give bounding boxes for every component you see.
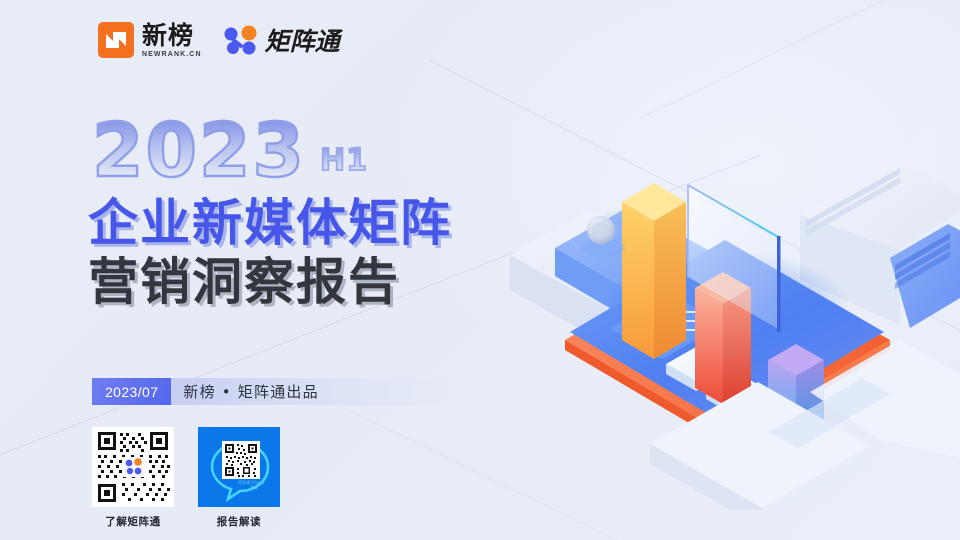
newrank-en-text: NEWRANK.CN xyxy=(142,51,202,58)
qr-code-group: 了解矩阵通 xyxy=(92,427,280,529)
half-year-text: H1 xyxy=(320,146,368,176)
qr-item-1[interactable]: 矩阵通.Cherry 邀请 报告解读 xyxy=(198,427,280,529)
title-line-1: 企业新媒体矩阵 xyxy=(88,194,452,253)
newrank-n-mark xyxy=(98,22,134,58)
date-badge: 2023/07 xyxy=(92,378,171,405)
glass-pane-post xyxy=(777,236,781,332)
year-block: 2023 H1 xyxy=(92,118,368,185)
isometric-dashboard-illustration xyxy=(470,40,960,510)
juzhentong-cn-text: 矩阵通 xyxy=(265,22,340,58)
newrank-logo[interactable]: 新榜 NEWRANK.CN xyxy=(98,22,202,58)
publisher-label: 新榜 • 矩阵通出品 xyxy=(171,378,447,405)
qr-caption-0: 了解矩阵通 xyxy=(105,514,161,529)
bar-tall-yellow xyxy=(622,183,686,359)
logo-bar: 新榜 NEWRANK.CN 矩阵通 xyxy=(98,22,340,58)
year-text: 2023 xyxy=(92,118,306,185)
qr-item-0[interactable]: 了解矩阵通 xyxy=(92,427,174,529)
byline: 2023/07 新榜 • 矩阵通出品 xyxy=(92,378,447,405)
svg-text:邀请: 邀请 xyxy=(250,484,258,490)
poster-canvas: 新榜 NEWRANK.CN 矩阵通 2023 H1 企业新媒体矩阵 营销洞察报告 xyxy=(0,0,960,540)
qr-code-blue[interactable]: 矩阵通.Cherry 邀请 xyxy=(198,427,280,507)
newrank-wordmark: 新榜 NEWRANK.CN xyxy=(142,23,202,58)
juzhentong-logo[interactable]: 矩阵通 xyxy=(224,22,340,58)
hero-title: 企业新媒体矩阵 营销洞察报告 xyxy=(88,194,452,312)
juzhentong-dots-mark xyxy=(224,25,258,55)
newrank-cn-text: 新榜 xyxy=(142,23,202,48)
qr-caption-1: 报告解读 xyxy=(217,514,261,529)
title-line-2: 营销洞察报告 xyxy=(88,253,452,312)
qr-code-white[interactable] xyxy=(92,427,174,507)
